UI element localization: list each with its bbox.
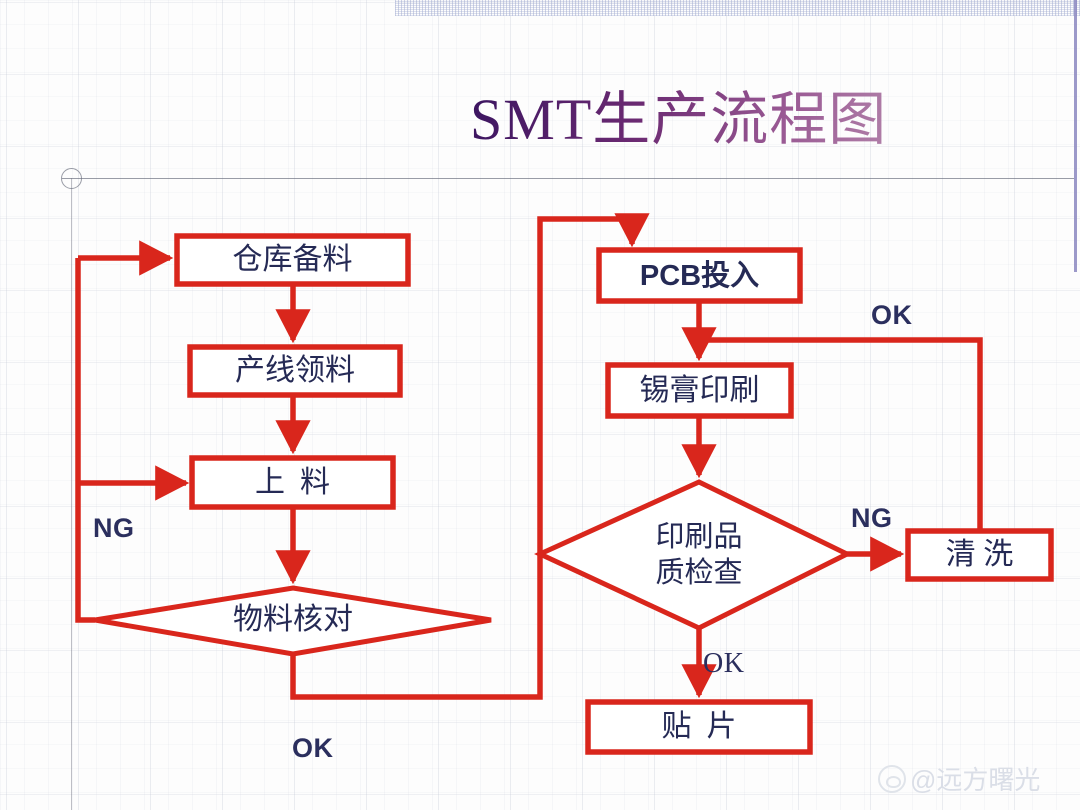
node-box-clean [908,531,1051,579]
paw-icon [878,765,906,793]
node-box-line-pick [190,347,400,395]
edge-label-ng-material: NG [93,513,135,544]
watermark-text: @远方曙光 [910,760,1040,797]
edge-label-ok-clean: OK [871,300,913,331]
edge-ng-bus-vertical [78,258,95,620]
node-box-paste-print [608,365,791,416]
node-box-pcb-input [599,250,800,301]
node-box-loading [192,458,393,507]
node-diamond-print-qc [540,482,847,628]
flowchart-canvas: SMT生产流程图 [0,0,1080,810]
flowchart-connectors [0,0,1080,810]
node-diamond-material-check [95,588,491,654]
node-box-warehouse [177,236,408,284]
watermark: @远方曙光 [878,760,1040,797]
node-box-mount [588,702,810,752]
edge-label-ok-material: OK [292,733,334,764]
edge-label-ok-mount: OK [703,648,744,680]
edge-label-ng-print: NG [851,503,893,534]
